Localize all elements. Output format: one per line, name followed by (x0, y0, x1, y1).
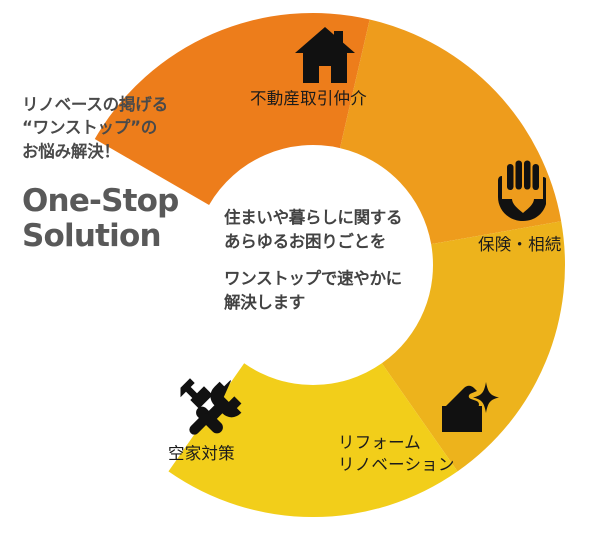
page-title-line-1: One-Stop (22, 184, 237, 219)
center-p2-line-1: ワンストップで速やかに (224, 267, 454, 291)
hand-heart-icon (498, 160, 546, 226)
center-p1-line-2: あらゆるお困りごとを (224, 230, 454, 254)
page-title-line-2: Solution (22, 219, 237, 254)
segment-label-vacant[interactable]: 空家対策 (168, 443, 235, 465)
lead-line-1: リノベースの掲げる (22, 93, 237, 116)
center-paragraph-1: 住まいや暮らしに関する あらゆるお困りごとを (224, 206, 454, 254)
infographic-canvas: リノベースの掲げる “ワンストップ”の お悩み解決！ One-Stop Solu… (0, 0, 600, 533)
center-p1-line-1: 住まいや暮らしに関する (224, 206, 454, 230)
house-icon (294, 26, 356, 88)
lead-line-2: “ワンストップ”の (22, 116, 237, 139)
center-description: 住まいや暮らしに関する あらゆるお困りごとを ワンストップで速やかに 解決します (224, 206, 454, 315)
segment-label-reform[interactable]: リフォーム リノベーション (338, 432, 455, 476)
lead-line-3: お悩み解決！ (22, 140, 237, 163)
page-title: One-Stop Solution (22, 184, 237, 253)
segment-label-insurance[interactable]: 保険・相続 (478, 234, 562, 256)
left-headline-block: リノベースの掲げる “ワンストップ”の お悩み解決！ One-Stop Solu… (22, 93, 237, 254)
segment-label-realestate[interactable]: 不動産取引仲介 (250, 88, 367, 110)
hammer-wrench-icon (177, 375, 247, 441)
center-p2-line-2: 解決します (224, 291, 454, 315)
segment-label-reform-line-1: リフォーム (338, 432, 455, 454)
center-paragraph-2: ワンストップで速やかに 解決します (224, 267, 454, 315)
segment-label-reform-line-2: リノベーション (338, 454, 455, 476)
